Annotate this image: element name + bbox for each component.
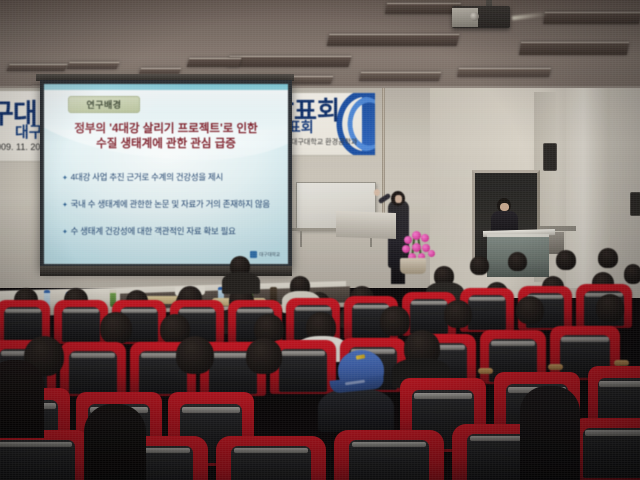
auditorium-seat[interactable] [60,342,126,396]
slide-section-badge: 연구배경 [68,96,140,113]
audience-head [176,336,214,374]
audience-head [624,264,640,284]
auditorium-seat[interactable] [334,430,444,480]
slide-bullet-item: ✦국내 수 생태계에 관한한 논문 및 자료가 거의 존재하지 않음 [62,199,274,211]
whiteboard-leg [300,231,302,247]
flower-bloom [421,234,429,242]
audience-head [100,312,132,344]
seat-armrest [548,364,563,370]
presenter-hand [374,189,380,196]
presentation-slide: 연구배경 정부의 '4대강 살리기 프로젝트'로 인한 수질 생태계에 관한 관… [44,84,288,264]
wall-speaker-right-icon [630,192,640,216]
banner-pole [382,88,385,226]
wall-speaker-icon [543,143,557,171]
audience-head [380,306,410,336]
audience-shoulders [222,272,260,294]
audience-silhouette [84,404,146,480]
side-table [336,211,396,239]
moderator-face [500,203,509,211]
slide-bullet-text: 수 생태계 건강성에 대한 객관적인 자료 확보 필요 [71,226,236,236]
projector-lens-icon [470,12,479,21]
bullet-dot-icon: ✦ [62,229,68,236]
audience-silhouette [520,386,580,480]
flower-bloom [402,245,410,253]
audience-head [556,250,576,270]
slide-bullet-list: ✦4대강 사업 추진 근거로 수계의 건강성을 제시 ✦국내 수 생태계에 관한… [62,172,274,253]
audience-head [470,256,489,275]
flower-bloom [428,250,435,257]
photo-scene: 구대 대구 2009. 11. 20(금) 발표회 발표회 대구대학교 환경공학… [0,0,640,480]
slide-footer-logo: 대구대학교 [250,251,280,258]
flower-bloom [412,231,421,240]
slide-bullet-text: 4대강 사업 추진 근거로 수계의 건강성을 제시 [71,172,223,182]
audience-silhouette [0,360,44,438]
slide-bullet-text: 국내 수 생태계에 관한한 논문 및 자료가 거의 존재하지 않음 [71,199,270,209]
seat-armrest [478,368,493,374]
banner-left-line2: 대구 [15,121,43,142]
flower-bloom [404,236,412,244]
audience-head [596,294,624,322]
slide-footer-logo-text: 대구대학교 [259,252,280,258]
university-mark-icon [250,251,257,258]
slide-section-badge-label: 연구배경 [86,98,121,111]
slide-title-line1: 정부의 '4대강 살리기 프로젝트'로 인한 [44,122,288,137]
bullet-dot-icon: ✦ [62,175,68,182]
audience-head [516,296,544,324]
audience-head [246,338,282,374]
slide-title-line2: 수질 생태계에 관한 관심 급증 [44,137,288,152]
banner-right-org: 대구대학교 환경공학과 [291,137,357,147]
audience-head [508,252,527,271]
flower-bloom [412,243,421,252]
audience-head [444,300,472,328]
slide-bullet-item: ✦4대강 사업 추진 근거로 수계의 건강성을 제시 [62,172,274,184]
flower-pot [400,258,426,274]
presenter-face [395,195,402,203]
audience-head [598,248,618,268]
audience-shoulders [318,388,394,432]
slide-title: 정부의 '4대강 살리기 프로젝트'로 인한 수질 생태계에 관한 관심 급증 [44,122,288,152]
bullet-dot-icon: ✦ [62,202,68,209]
auditorium-seat[interactable] [216,436,326,480]
slide-bullet-item: ✦수 생태계 건강성에 대한 객관적인 자료 확보 필요 [62,226,274,238]
auditorium-seat[interactable] [570,418,640,480]
